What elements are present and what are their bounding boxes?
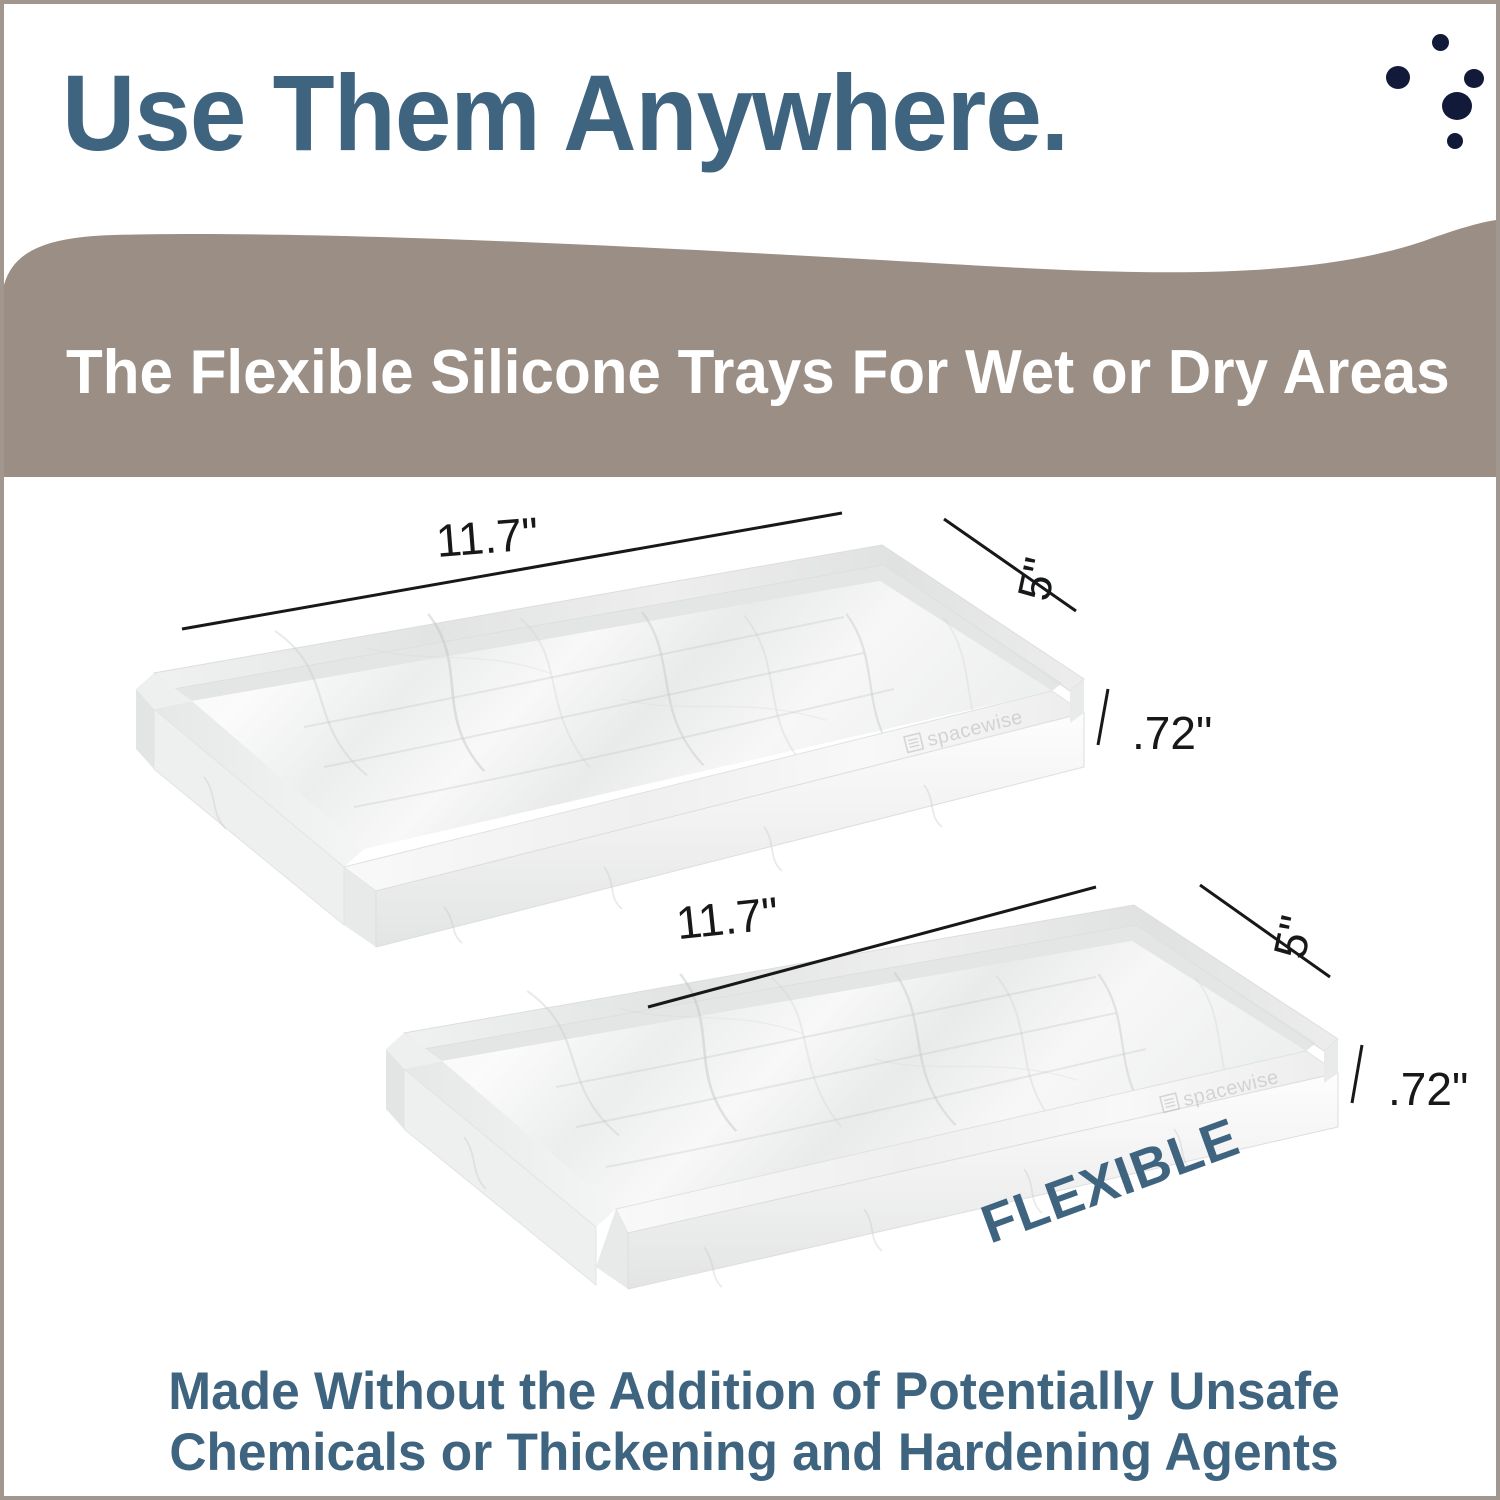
page-title: Use Them Anywhere.	[62, 56, 1068, 169]
decorative-dot-icon	[1464, 69, 1484, 88]
banner-subtitle: The Flexible Silicone Trays For Wet or D…	[66, 337, 1450, 408]
decorative-dot-icon	[1442, 92, 1472, 120]
tray-top: spacewise	[136, 545, 1084, 947]
decorative-dot-icon	[1432, 34, 1449, 51]
dimension-label-height-bottom: .72"	[1388, 1062, 1468, 1116]
tray-bottom: spacewise	[386, 905, 1338, 1289]
dimension-line-height-bottom	[1352, 1045, 1362, 1103]
dimension-label-length-top: 11.7"	[434, 506, 540, 568]
decorative-dot-icon	[1447, 133, 1463, 149]
decorative-dot-icon	[1386, 66, 1410, 89]
decorative-dots-cluster	[1344, 24, 1494, 194]
dimension-line-height-top	[1098, 689, 1108, 745]
footer-caption-line-1: Made Without the Addition of Potentially…	[27, 1362, 1482, 1423]
infographic-page: Use Them Anywhere. The Flexible Silicone…	[0, 0, 1500, 1500]
dimension-label-length-bottom: 11.7"	[673, 886, 781, 950]
footer-caption-line-2: Chemicals or Thickening and Hardening Ag…	[27, 1423, 1482, 1484]
footer-caption: Made Without the Addition of Potentially…	[27, 1362, 1482, 1484]
subtitle-banner: The Flexible Silicone Trays For Wet or D…	[4, 219, 1500, 477]
dimension-label-height-top: .72"	[1132, 706, 1212, 760]
